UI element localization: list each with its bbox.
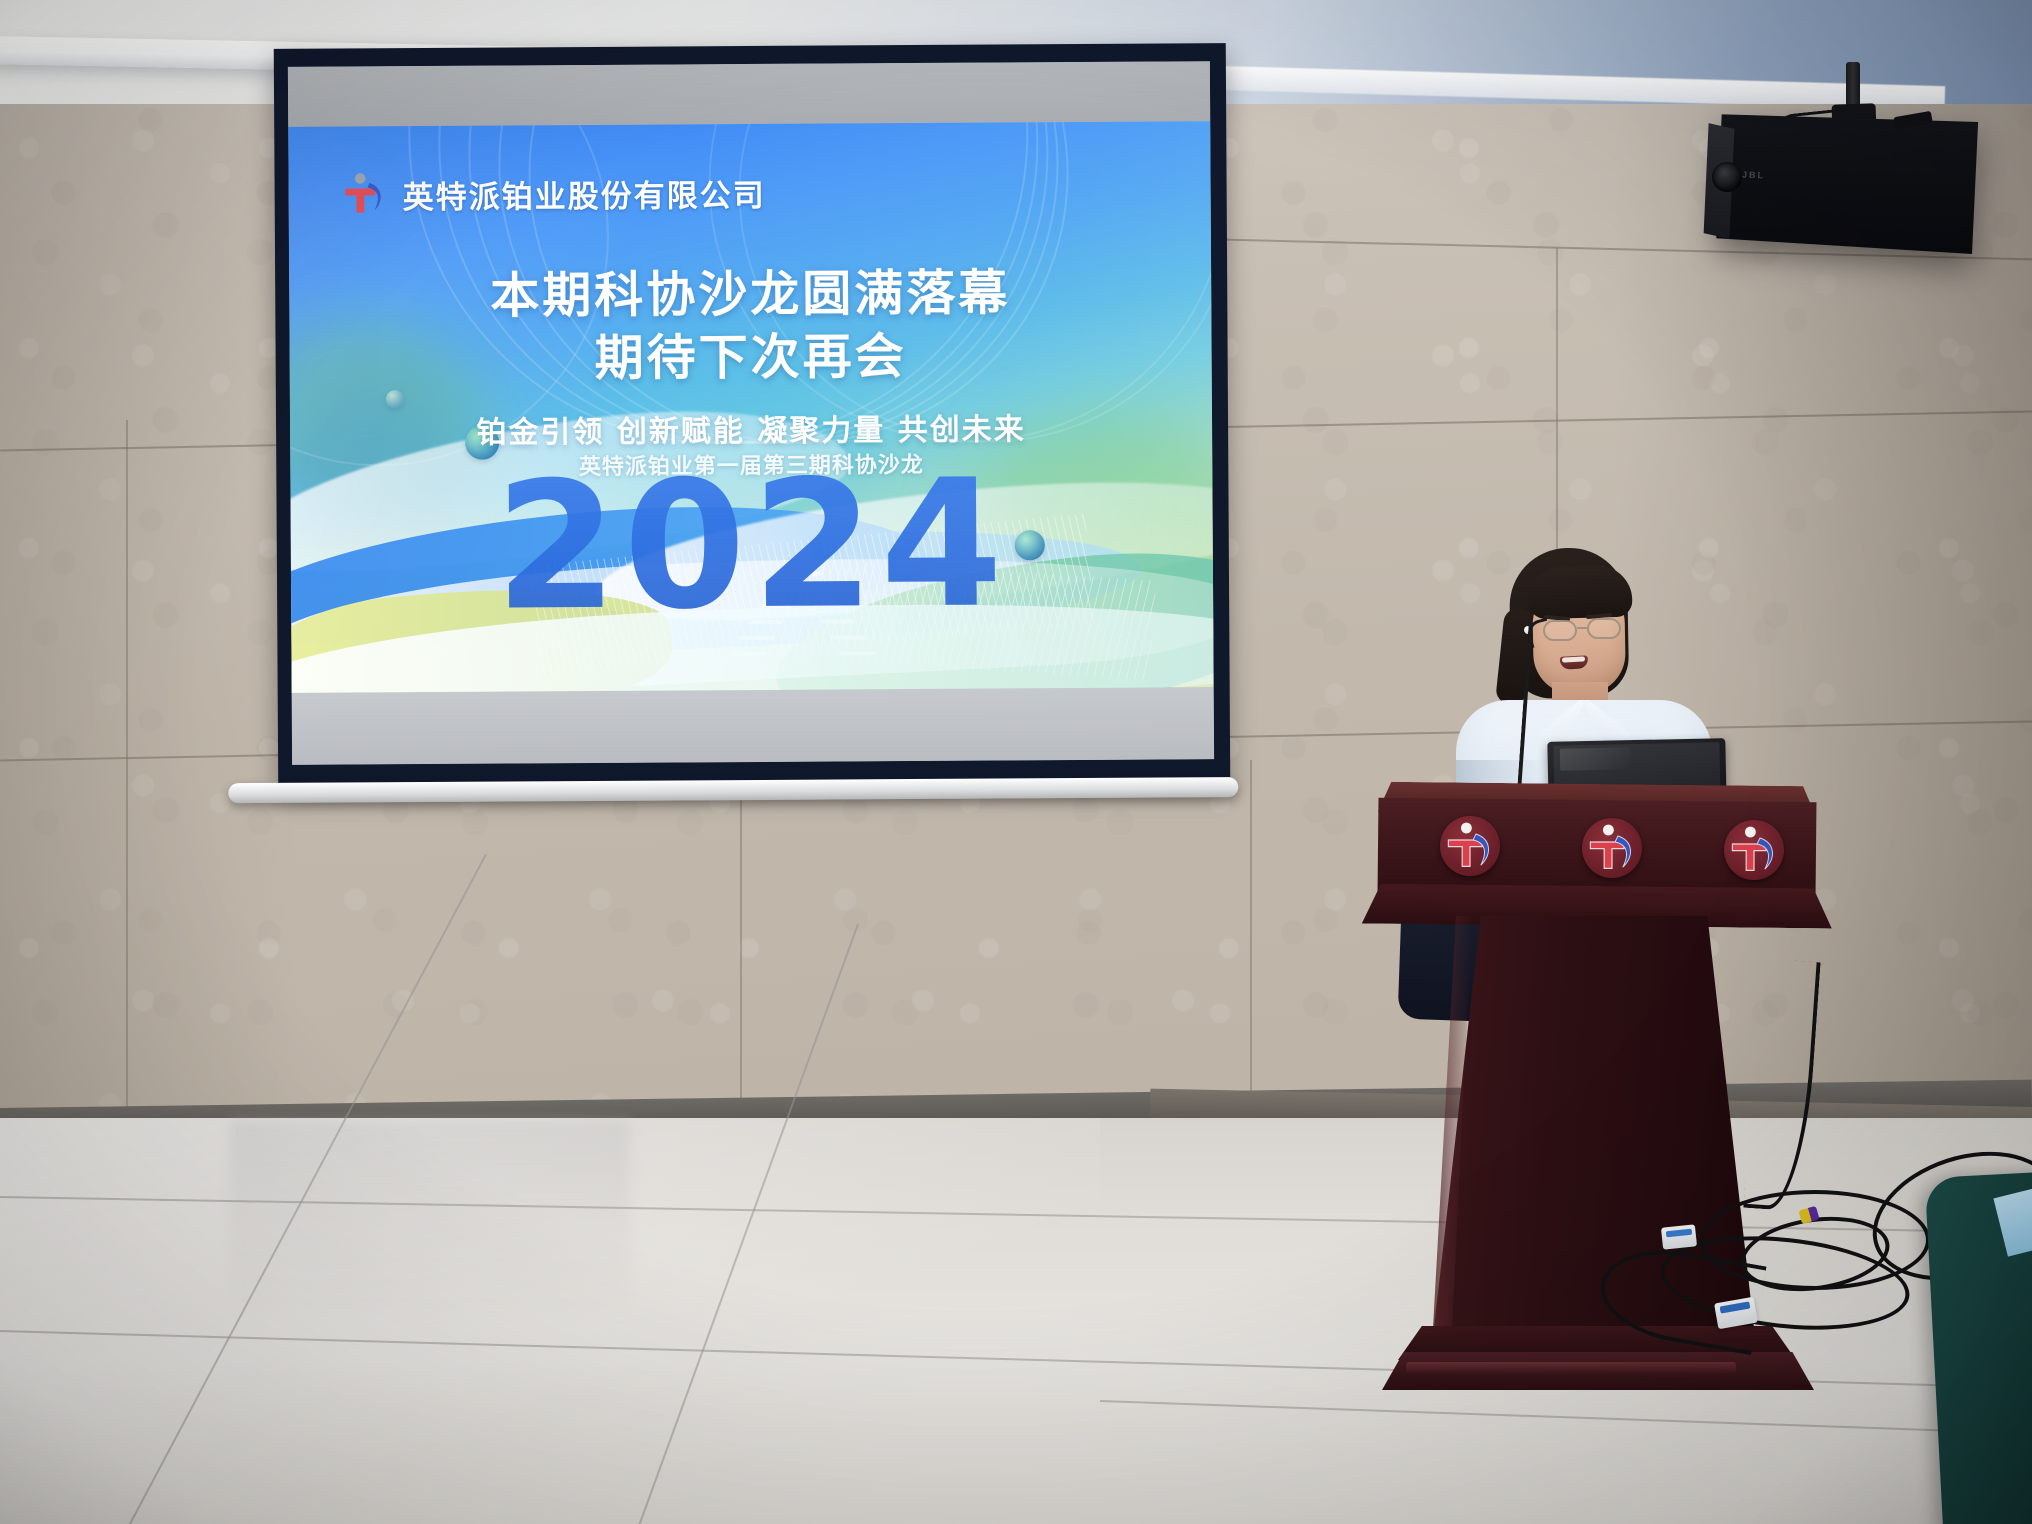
screen-surface: 2024 英特派铂业股份有限公司 本期科协 (288, 61, 1214, 765)
wall-shadow-left (0, 104, 300, 1134)
slide-title: 本期科协沙龙圆满落幕 期待下次再会 (289, 261, 1212, 392)
slide-sphere-3 (386, 390, 404, 408)
projection-screen: 2024 英特派铂业股份有限公司 本期科协 (274, 43, 1231, 789)
laptop-screen-reflection (1560, 747, 1630, 770)
screen-unlit-bottom (292, 687, 1214, 765)
ceiling-speaker (1716, 114, 1978, 254)
slide-subtitle-event: 英特派铂业第一届第三期科协沙龙 (290, 445, 1212, 483)
slide-company-name: 英特派铂业股份有限公司 (403, 169, 766, 216)
presentation-slide: 2024 英特派铂业股份有限公司 本期科协 (288, 121, 1213, 693)
screen-unlit-top (288, 61, 1210, 127)
lectern-logo-badge-1 (1440, 816, 1500, 876)
speaker-brand-label: JBL (1742, 169, 1765, 180)
slide-title-line2: 期待下次再会 (289, 324, 1211, 392)
conference-room-scene: JBL (0, 0, 2032, 1524)
presenter-hair-front (1527, 565, 1632, 620)
lectern-base-highlight (1406, 1362, 1736, 1374)
eyeglasses-bridge-icon (1577, 627, 1587, 629)
intepai-t-figure-logo-icon (340, 170, 388, 218)
lectern-logo-badge-2 (1582, 818, 1642, 878)
wall-seam-vertical-4 (1250, 760, 1252, 1120)
lectern-logo-badge-3 (1724, 820, 1784, 880)
wall-seam-vertical-2 (740, 760, 742, 1120)
eyeglasses-lens-right-icon (1587, 618, 1621, 639)
slide-title-line1: 本期科协沙龙圆满落幕 (289, 261, 1211, 329)
slide-brand-lockup: 英特派铂业股份有限公司 (340, 168, 765, 219)
